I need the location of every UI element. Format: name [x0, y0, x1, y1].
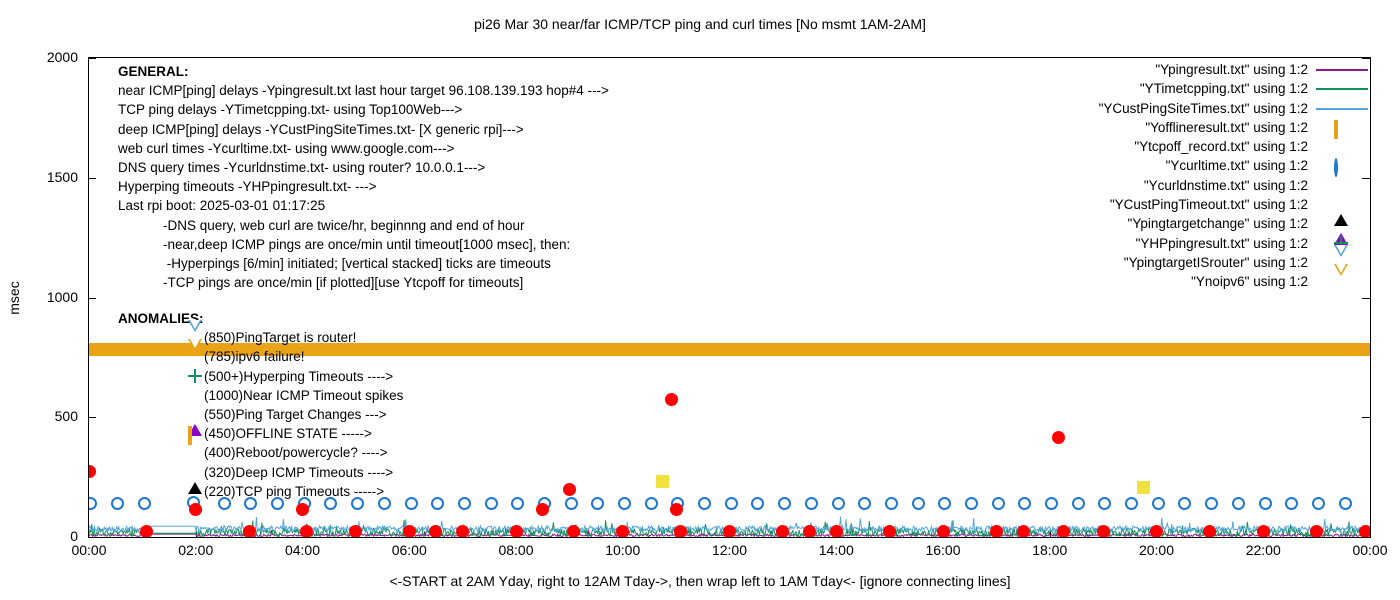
curldnstime-point	[665, 393, 678, 406]
general-line-4: DNS query times -Ycurldnstime.txt- using…	[118, 158, 609, 177]
legend-item-1[interactable]: "YTimetcpping.txt" using 1:2	[1030, 79, 1370, 98]
legend-label: "Ypingtargetchange" using 1:2	[1128, 214, 1308, 233]
anomaly-label: (320)Deep ICMP Timeouts ---->	[204, 463, 393, 482]
anomaly-row: (320)Deep ICMP Timeouts ---->	[118, 463, 403, 482]
y-tick-mark	[1362, 537, 1370, 538]
anomaly-symbol	[188, 407, 204, 422]
anomalies-annotation-block: ANOMALIES: (850)PingTarget is router!(78…	[118, 309, 403, 501]
curltime-point	[405, 497, 418, 510]
curldnstime-point	[830, 525, 843, 538]
x-tick-label-9: 18:00	[1010, 542, 1090, 558]
legend-key	[1308, 137, 1370, 156]
x-tick-label-4: 08:00	[476, 542, 556, 558]
curltime-point	[698, 497, 711, 510]
curldnstime-point	[616, 525, 629, 538]
anomaly-row: (1000)Near ICMP Timeout spikes	[118, 386, 403, 405]
curltime-point	[1045, 497, 1058, 510]
y-tick-label-500: 500	[22, 408, 78, 424]
legend-item-8[interactable]: "Ypingtargetchange" using 1:2	[1030, 214, 1370, 233]
general-line-2: deep ICMP[ping] delays -YCustPingSiteTim…	[118, 120, 609, 139]
curldnstime-point	[296, 503, 309, 516]
curltime-point	[458, 497, 471, 510]
legend-item-0[interactable]: "Ypingresult.txt" using 1:2	[1030, 60, 1370, 79]
curldnstime-point	[1097, 525, 1110, 538]
curldnstime-point	[140, 525, 153, 538]
curltime-point	[992, 497, 1005, 510]
legend-symbol	[1334, 120, 1350, 135]
curldnstime-point	[1310, 525, 1323, 538]
x-tick-label-2: 04:00	[263, 542, 343, 558]
curldnstime-point	[990, 525, 1003, 538]
legend-label: "Yofflineresult.txt" using 1:2	[1145, 118, 1308, 137]
anomaly-label: (500+)Hyperping Timeouts ---->	[204, 367, 393, 386]
curltime-point	[885, 497, 898, 510]
anomaly-row: (500+)Hyperping Timeouts ---->	[118, 367, 403, 386]
y-tick-label-1500: 1500	[22, 169, 78, 185]
curltime-point	[645, 497, 658, 510]
anomaly-symbol	[188, 465, 204, 480]
curldnstime-point	[456, 525, 469, 538]
open-square-icon	[188, 426, 192, 445]
anomaly-row: (400)Reboot/powercycle? ---->	[118, 443, 403, 462]
y-axis-label: msec	[6, 268, 22, 328]
x-tick-label-0: 00:00	[49, 542, 129, 558]
curldnstime-point	[937, 525, 950, 538]
anomaly-label: (220)TCP ping Timeouts ----->	[204, 482, 384, 501]
general-line-10: -TCP pings are once/min [if plotted][use…	[118, 273, 609, 292]
legend-label: "YTimetcpping.txt" using 1:2	[1140, 79, 1308, 98]
curldnstime-point	[723, 525, 736, 538]
legend-symbol	[1334, 197, 1350, 212]
curldnstime-point	[349, 525, 362, 538]
curldnstime-point	[883, 525, 896, 538]
open-triangle-down-icon	[1334, 264, 1348, 291]
general-line-6: Last rpi boot: 2025-03-01 01:17:25	[118, 196, 609, 215]
anomaly-rows: (850)PingTarget is router!(785)ipv6 fail…	[118, 328, 403, 501]
x-tick-label-11: 22:00	[1223, 542, 1303, 558]
curldnstime-point	[670, 503, 683, 516]
curldnstime-point	[429, 525, 442, 538]
legend-label: "Ypingresult.txt" using 1:2	[1155, 60, 1308, 79]
anomaly-row: (220)TCP ping Timeouts ----->	[118, 482, 403, 501]
legend-item-11[interactable]: "Ynoipv6" using 1:2	[1030, 272, 1370, 291]
legend-key	[1308, 79, 1370, 98]
curltime-point	[805, 497, 818, 510]
curldnstime-point	[1203, 525, 1216, 538]
general-line-9: -Hyperpings [6/min] initiated; [vertical…	[118, 254, 609, 273]
legend: "Ypingresult.txt" using 1:2"YTimetcpping…	[1030, 60, 1370, 292]
x-tick-label-5: 10:00	[583, 542, 663, 558]
chart-page: pi26 Mar 30 near/far ICMP/TCP ping and c…	[0, 0, 1400, 600]
general-header: GENERAL:	[118, 62, 609, 81]
curldnstime-point	[300, 525, 313, 538]
anomaly-symbol	[188, 484, 204, 499]
open-triangle-down-icon	[188, 339, 202, 366]
legend-key	[1308, 214, 1370, 233]
curldnstime-point	[563, 483, 576, 496]
legend-key	[1308, 156, 1370, 175]
legend-symbol	[1334, 139, 1350, 154]
legend-label: "Ynoipv6" using 1:2	[1191, 272, 1308, 291]
anomaly-label: (450)OFFLINE STATE ----->	[204, 424, 372, 443]
curldnstime-point	[1057, 525, 1070, 538]
general-line-1: TCP ping delays -YTimetcpping.txt- using…	[118, 100, 609, 119]
anomaly-symbol	[188, 349, 204, 364]
general-line-7: -DNS query, web curl are twice/hr, begin…	[118, 216, 609, 235]
x-tick-label-3: 06:00	[369, 542, 449, 558]
anomaly-row: (550)Ping Target Changes --->	[118, 405, 403, 424]
legend-item-9[interactable]: "YHPpingresult.txt" using 1:2	[1030, 234, 1370, 253]
legend-line-swatch	[1316, 88, 1368, 90]
legend-key	[1308, 118, 1370, 137]
open-square-icon	[1334, 120, 1338, 139]
legend-symbol	[1334, 178, 1350, 193]
general-lines: near ICMP[ping] delays -Ypingresult.txt …	[118, 81, 609, 292]
legend-symbol	[1334, 216, 1350, 231]
x-tick-label-12: 00:00	[1330, 542, 1400, 558]
legend-key	[1308, 99, 1370, 118]
legend-label: "YCustPingSiteTimes.txt" using 1:2	[1099, 99, 1308, 118]
legend-label: "Ycurltime.txt" using 1:2	[1166, 156, 1308, 175]
curldnstime-point	[674, 525, 687, 538]
legend-key	[1308, 60, 1370, 79]
curltime-point	[565, 497, 578, 510]
legend-label: "YCustPingTimeout.txt" using 1:2	[1110, 195, 1308, 214]
chart-title: pi26 Mar 30 near/far ICMP/TCP ping and c…	[0, 16, 1400, 32]
anomaly-row: (785)ipv6 failure!	[118, 347, 403, 366]
x-axis-label: <-START at 2AM Yday, right to 12AM Tday-…	[0, 573, 1400, 589]
legend-item-4[interactable]: "Ytcpoff_record.txt" using 1:2	[1030, 137, 1370, 156]
curltime-point	[618, 497, 631, 510]
curldnstime-point	[243, 525, 256, 538]
y-tick-label-2000: 2000	[22, 49, 78, 65]
anomaly-label: (1000)Near ICMP Timeout spikes	[204, 386, 403, 405]
anomaly-label: (400)Reboot/powercycle? ---->	[204, 443, 387, 462]
curldnstime-point	[1150, 525, 1163, 538]
general-line-8: -near,deep ICMP pings are once/min until…	[118, 235, 609, 254]
legend-item-10[interactable]: "YpingtargetISrouter" using 1:2	[1030, 253, 1370, 272]
curltime-point	[1152, 497, 1165, 510]
tcpoff-point	[1137, 481, 1150, 494]
legend-line-swatch	[1316, 69, 1368, 71]
x-tick-label-8: 16:00	[903, 542, 983, 558]
legend-label: "Ycurldnstime.txt" using 1:2	[1144, 176, 1308, 195]
legend-label: "YpingtargetISrouter" using 1:2	[1124, 253, 1308, 272]
x-tick-label-1: 02:00	[156, 542, 236, 558]
curltime-point	[1232, 497, 1245, 510]
general-annotation-block: GENERAL: near ICMP[ping] delays -Ypingre…	[118, 62, 609, 292]
curltime-point	[1259, 497, 1272, 510]
anomaly-label: (550)Ping Target Changes --->	[204, 405, 386, 424]
y-tick-label-1000: 1000	[22, 289, 78, 305]
y-tick-mark	[88, 537, 96, 538]
x-tick-label-7: 14:00	[796, 542, 876, 558]
legend-item-5[interactable]: "Ycurltime.txt" using 1:2	[1030, 156, 1370, 175]
curltime-point	[725, 497, 738, 510]
open-circle-icon	[1334, 158, 1338, 177]
general-line-3: web curl times -Ycurltime.txt- using www…	[118, 139, 609, 158]
curldnstime-point	[403, 525, 416, 538]
curltime-point	[1339, 497, 1352, 510]
anomalies-header: ANOMALIES:	[118, 309, 403, 328]
general-line-5: Hyperping timeouts -YHPpingresult.txt- -…	[118, 177, 609, 196]
general-line-0: near ICMP[ping] delays -Ypingresult.txt …	[118, 81, 609, 100]
anomaly-symbol	[188, 426, 204, 441]
anomaly-label: (850)PingTarget is router!	[204, 328, 356, 347]
curltime-point	[485, 497, 498, 510]
anomaly-row: (450)OFFLINE STATE ----->	[118, 424, 403, 443]
legend-item-6[interactable]: "Ycurldnstime.txt" using 1:2	[1030, 176, 1370, 195]
anomaly-row: (850)PingTarget is router!	[118, 328, 403, 347]
curldnstime-point	[1257, 525, 1270, 538]
x-tick-label-10: 20:00	[1117, 542, 1197, 558]
curldnstime-point	[567, 525, 580, 538]
curldnstime-point	[1017, 525, 1030, 538]
curltime-point	[1312, 497, 1325, 510]
curldnstime-point	[803, 525, 816, 538]
curltime-point	[965, 497, 978, 510]
legend-item-7[interactable]: "YCustPingTimeout.txt" using 1:2	[1030, 195, 1370, 214]
legend-label: "Ytcpoff_record.txt" using 1:2	[1134, 137, 1308, 156]
legend-symbol	[1334, 158, 1350, 173]
curldnstime-point	[1359, 525, 1370, 538]
legend-symbol	[1334, 274, 1350, 289]
curltime-point	[912, 497, 925, 510]
legend-line-swatch	[1316, 108, 1368, 110]
curltime-point	[1125, 497, 1138, 510]
x-tick-label-6: 12:00	[690, 542, 770, 558]
curltime-point	[1072, 497, 1085, 510]
anomaly-symbol	[188, 369, 204, 384]
curldnstime-point	[510, 525, 523, 538]
legend-key	[1308, 272, 1370, 291]
legend-label: "YHPpingresult.txt" using 1:2	[1136, 234, 1308, 253]
legend-key	[1308, 195, 1370, 214]
legend-item-3[interactable]: "Yofflineresult.txt" using 1:2	[1030, 118, 1370, 137]
legend-key	[1308, 176, 1370, 195]
anomaly-label: (785)ipv6 failure!	[204, 347, 305, 366]
tcpoff-point	[656, 475, 669, 488]
curltime-point	[832, 497, 845, 510]
curldnstime-point	[776, 525, 789, 538]
legend-item-2[interactable]: "YCustPingSiteTimes.txt" using 1:2	[1030, 99, 1370, 118]
